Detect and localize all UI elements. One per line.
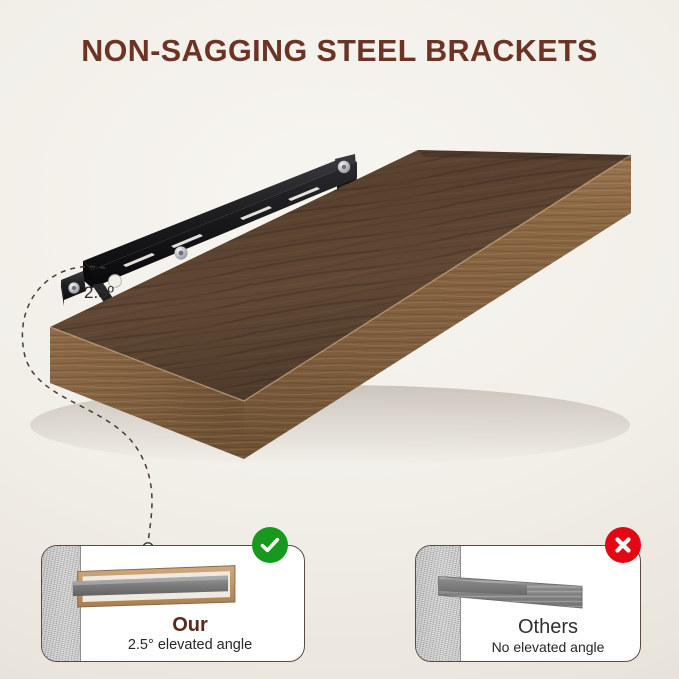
product-infographic: NON-SAGGING STEEL BRACKETS [0, 0, 679, 679]
others-caption: Others No elevated angle [460, 616, 636, 655]
our-caption: Our 2.5° elevated angle [80, 614, 300, 653]
check-icon [252, 527, 288, 563]
others-title: Others [460, 616, 636, 638]
others-subtitle: No elevated angle [460, 639, 636, 655]
our-subtitle: 2.5° elevated angle [80, 637, 300, 653]
angle-label: 2.5º [84, 283, 114, 303]
page-title: NON-SAGGING STEEL BRACKETS [0, 34, 679, 69]
panel-others[interactable]: Others No elevated angle [415, 545, 641, 662]
our-title: Our [80, 614, 300, 636]
hero-product-image [0, 95, 679, 515]
cross-icon [605, 527, 641, 563]
